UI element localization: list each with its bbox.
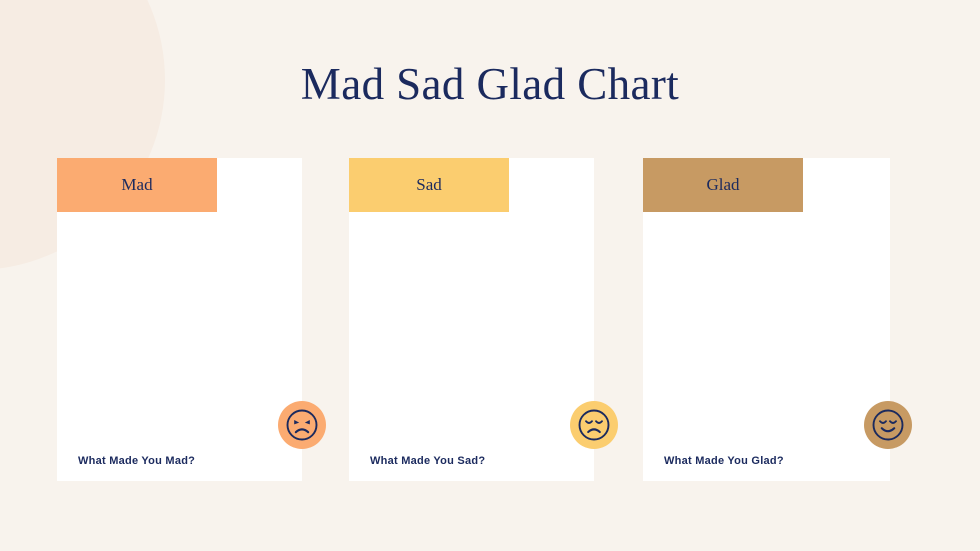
card-header-sad: Sad <box>349 158 509 212</box>
card-header-mad: Mad <box>57 158 217 212</box>
page-title: Mad Sad Glad Chart <box>0 55 980 113</box>
card-glad[interactable]: Glad What Made You Glad? <box>643 158 890 481</box>
card-sad[interactable]: Sad What Made You Sad? <box>349 158 594 481</box>
card-question-glad: What Made You Glad? <box>664 455 784 467</box>
card-question-sad: What Made You Sad? <box>370 455 485 467</box>
angry-face-icon <box>278 401 326 449</box>
card-question-mad: What Made You Mad? <box>78 455 195 467</box>
card-header-glad: Glad <box>643 158 803 212</box>
slide-canvas: Mad Sad Glad Chart Mad What Made You Mad… <box>0 0 980 551</box>
happy-face-icon <box>864 401 912 449</box>
sad-face-icon <box>570 401 618 449</box>
card-mad[interactable]: Mad What Made You Mad? <box>57 158 302 481</box>
